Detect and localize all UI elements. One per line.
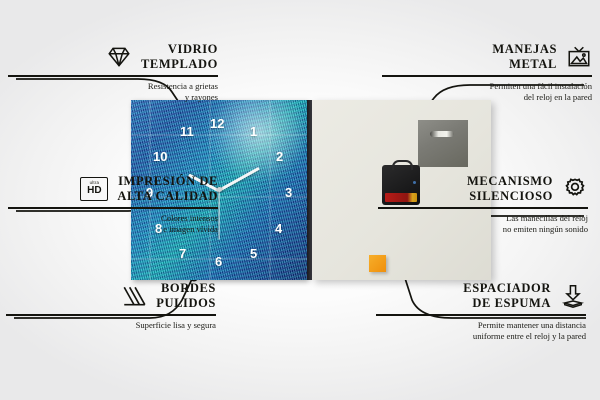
feature-title: IMPRESIÓN DE: [117, 174, 218, 189]
feature-title: MANEJAS: [492, 42, 557, 57]
feature-rule: [8, 207, 218, 209]
clock-numeral: 6: [215, 255, 222, 268]
feature-title: SILENCIOSO: [467, 189, 553, 204]
feature-desc: Colores intensos: [8, 213, 218, 224]
feature-desc: Permiten una fácil instalación: [382, 81, 592, 92]
foam-spacer-icon: [560, 283, 586, 309]
clock-numeral: 7: [179, 247, 186, 260]
feature-desc: Las manecillas del reloj: [378, 213, 588, 224]
diamond-icon: [106, 44, 132, 70]
feature-title: ESPACIADOR: [463, 281, 551, 296]
clock-numeral: 4: [275, 222, 282, 235]
feature-desc: e imagen vívida: [8, 224, 218, 235]
clock-numeral: 10: [153, 150, 167, 163]
feature-desc: no emiten ningún sonido: [378, 224, 588, 235]
clock-numeral: 1: [250, 125, 257, 138]
clock-numeral: 2: [276, 150, 283, 163]
infographic-canvas: 12 1 2 3 4 5 6 7 8 9 10 11: [0, 0, 600, 400]
feature-title: TEMPLADO: [141, 57, 218, 72]
ultra-hd-big-label: HD: [87, 186, 101, 196]
feature-title: METAL: [492, 57, 557, 72]
hanger-slot: [430, 131, 454, 137]
mechanism-loop: [392, 160, 413, 170]
polished-edges-icon: [121, 283, 147, 309]
clock-numeral: 12: [210, 117, 224, 130]
ultra-hd-icon: ultra HD: [80, 177, 108, 201]
feature-rule: [6, 314, 216, 316]
feature-desc: y rayones: [8, 92, 218, 103]
feature-desc: Superficie lisa y segura: [6, 320, 216, 331]
feature-desc: uniforme entre el reloj y la pared: [376, 331, 586, 342]
feature-manejas-metal: MANEJAS METAL Permiten una fácil instala…: [382, 42, 592, 103]
clock-numeral: 3: [285, 186, 292, 199]
foam-spacer: [369, 255, 386, 272]
feature-title: DE ESPUMA: [463, 296, 551, 311]
feature-desc: Permite mantener una distancia: [376, 320, 586, 331]
feature-title: ALTA CALIDAD: [117, 189, 218, 204]
feature-impresion-alta-calidad: ultra HD IMPRESIÓN DE ALTA CALIDAD Color…: [8, 174, 218, 235]
feature-rule: [382, 75, 592, 77]
picture-frame-icon: [566, 44, 592, 70]
feature-mecanismo-silencioso: MECANISMO SILENCIOSO Las manecillas del …: [378, 174, 588, 235]
clock-numeral: 5: [250, 247, 257, 260]
feature-rule: [8, 75, 218, 77]
feature-espaciador-espuma: ESPACIADOR DE ESPUMA Permite mantener un…: [376, 281, 586, 342]
feature-title: PULIDOS: [156, 296, 216, 311]
clock-minute-hand: [218, 167, 260, 192]
feature-title: MECANISMO: [467, 174, 553, 189]
feature-desc: Resistencia a grietas: [8, 81, 218, 92]
clock-numeral: 11: [180, 125, 194, 138]
feature-title: VIDRIO: [141, 42, 218, 57]
clock-second-hand: [218, 191, 219, 240]
metal-hanger-plate: [418, 120, 468, 167]
feature-vidrio-templado: VIDRIO TEMPLADO Resistencia a grietas y …: [8, 42, 218, 103]
feature-title: BORDES: [156, 281, 216, 296]
feature-bordes-pulidos: BORDES PULIDOS Superficie lisa y segura: [6, 281, 216, 331]
feature-rule: [376, 314, 586, 316]
feature-rule: [378, 207, 588, 209]
gear-icon: [562, 176, 588, 202]
feature-desc: del reloj en la pared: [382, 92, 592, 103]
